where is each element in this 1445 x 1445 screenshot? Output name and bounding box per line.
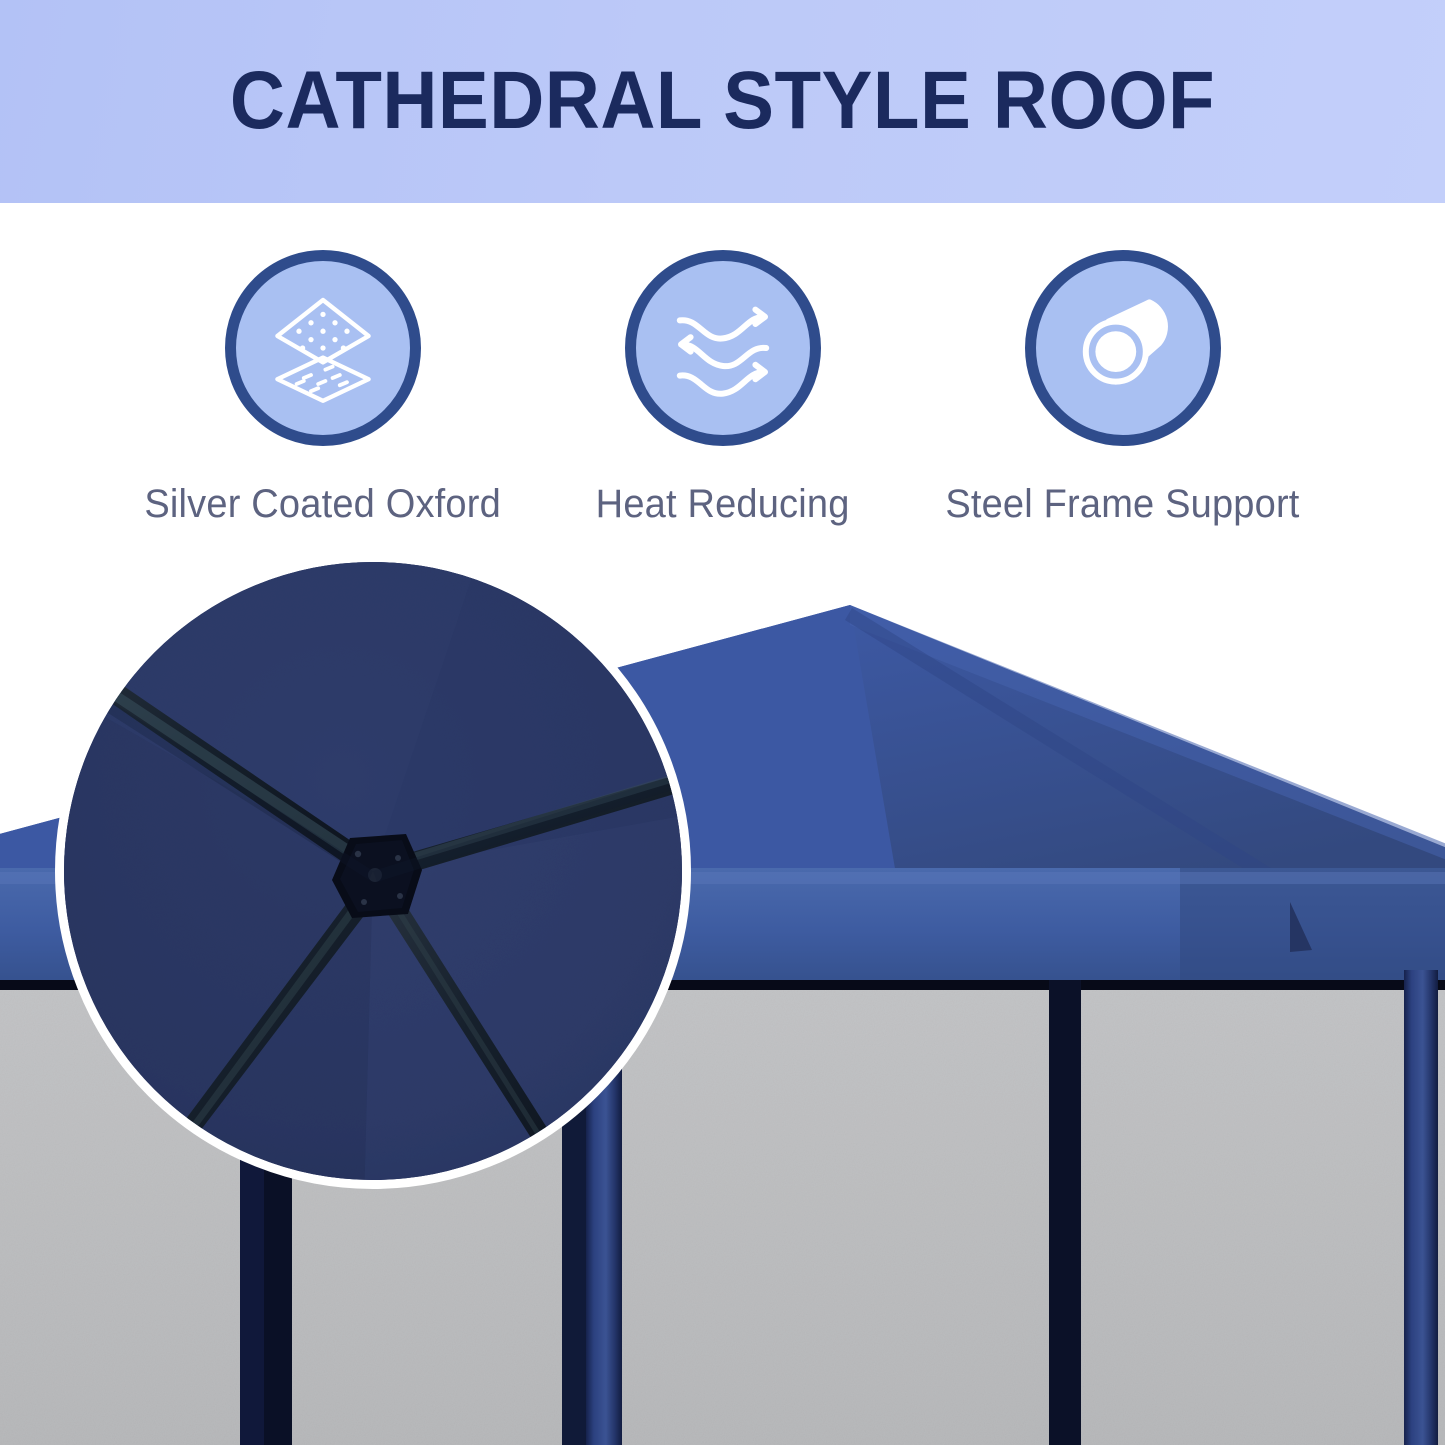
feature-item-heat-reducing: Heat Reducing bbox=[523, 250, 923, 527]
feature-badge bbox=[625, 250, 821, 446]
page-title: CATHEDRAL STYLE ROOF bbox=[51, 57, 1395, 145]
feature-item-silver-coated-oxford: Silver Coated Oxford bbox=[123, 250, 523, 527]
feature-badge bbox=[1025, 250, 1221, 446]
feature-label: Steel Frame Support bbox=[945, 481, 1299, 527]
steel-tube-icon bbox=[1063, 288, 1183, 408]
detail-magnifier-circle bbox=[55, 553, 691, 1189]
header-banner: CATHEDRAL STYLE ROOF bbox=[0, 0, 1445, 203]
feature-row: Silver Coated Oxford bbox=[0, 250, 1445, 550]
feature-label: Silver Coated Oxford bbox=[144, 481, 501, 527]
feature-badge bbox=[225, 250, 421, 446]
product-feature-poster: CATHEDRAL STYLE ROOF bbox=[0, 0, 1445, 1445]
feature-label: Heat Reducing bbox=[596, 481, 850, 527]
airflow-waves-icon bbox=[663, 288, 783, 408]
feature-item-steel-frame-support: Steel Frame Support bbox=[923, 250, 1323, 527]
fabric-layers-icon bbox=[263, 288, 383, 408]
